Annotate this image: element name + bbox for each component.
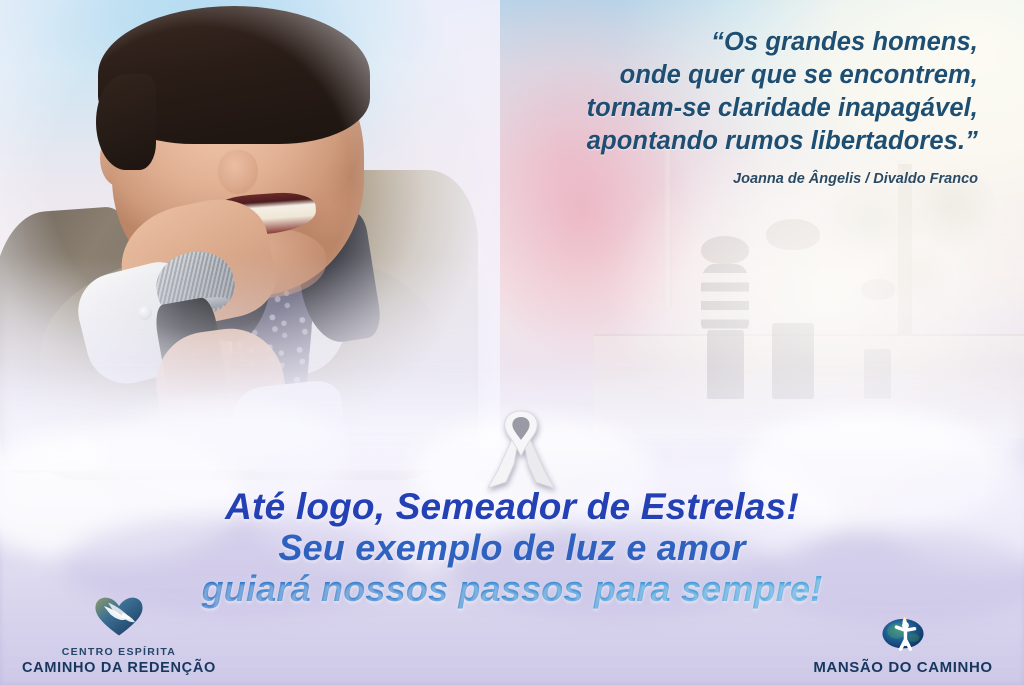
quote-attribution: Joanna de Ângelis / Divaldo Franco [378, 171, 978, 187]
globe-figure-icon [880, 613, 926, 656]
logo-right-line-1: MANSÃO DO CAMINHO [813, 659, 992, 677]
logo-mansao-do-caminho[interactable]: MANSÃO DO CAMINHO [788, 613, 1018, 677]
quote-line-1: “Os grandes homens, [378, 26, 978, 59]
headline-block: Até logo, Semeador de Estrelas! Seu exem… [0, 486, 1024, 609]
heart-hands-icon [93, 596, 145, 643]
quote-line-4: apontando rumos libertadores.” [378, 125, 978, 158]
quote-line-3: tornam-se claridade inapagável, [378, 92, 978, 125]
headline-line-2: Seu exemplo de luz e amor [0, 527, 1024, 568]
logo-centro-espirita-caminho-da-redencao[interactable]: CENTRO ESPÍRITA CAMINHO DA REDENÇÃO [14, 596, 224, 677]
logo-left-line-1: CENTRO ESPÍRITA [62, 646, 176, 659]
logo-left-line-2: CAMINHO DA REDENÇÃO [22, 659, 216, 677]
white-awareness-ribbon-icon [484, 408, 558, 490]
quote-block: “Os grandes homens, onde quer que se enc… [378, 26, 978, 187]
quote-line-2: onde quer que se encontrem, [378, 59, 978, 92]
memorial-poster: “Os grandes homens, onde quer que se enc… [0, 0, 1024, 685]
headline-line-1: Até logo, Semeador de Estrelas! [0, 486, 1024, 527]
